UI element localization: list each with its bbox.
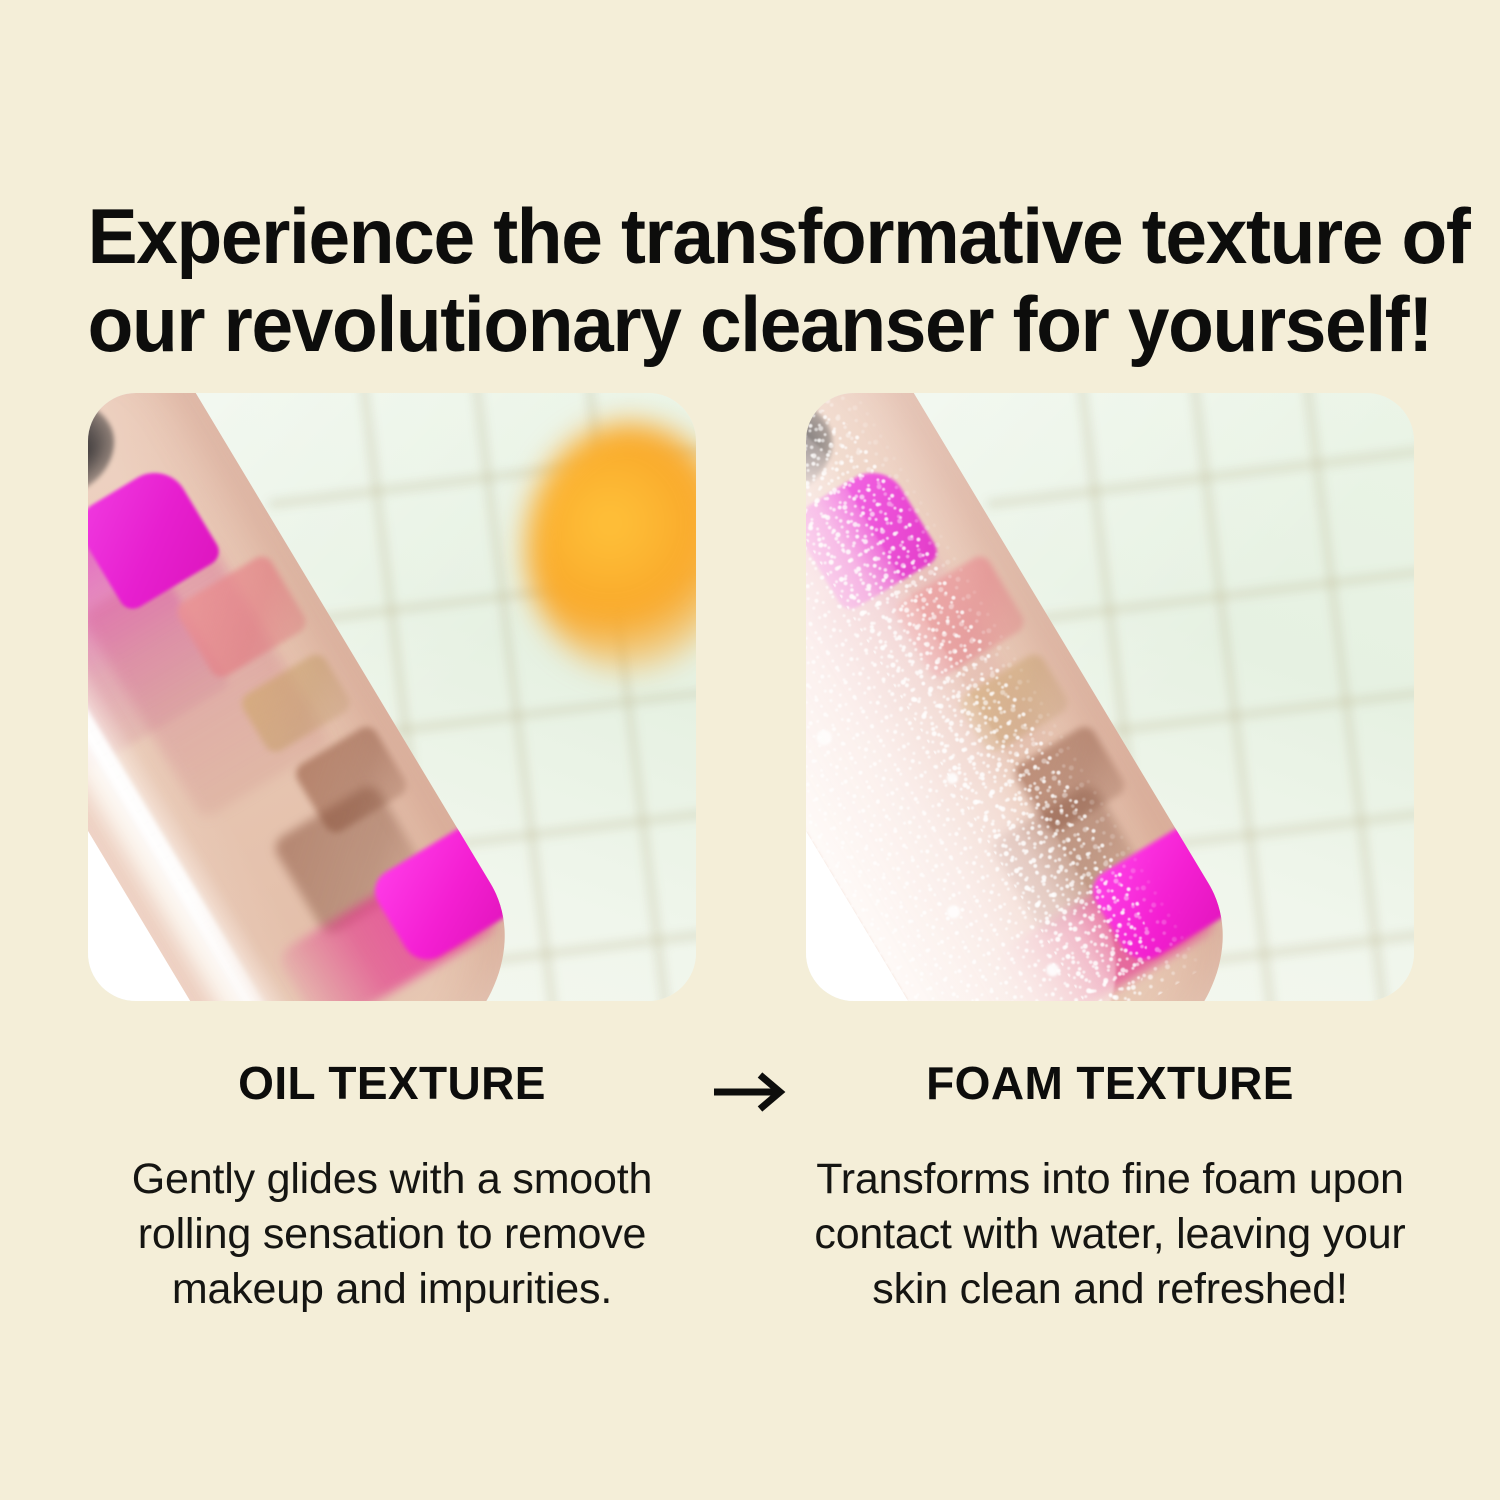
foam-texture-body: Transforms into fine foam upon contact w…: [806, 1152, 1414, 1317]
page-title: Experience the transformative texture of…: [88, 192, 1413, 368]
oil-texture-body: Gently glides with a smooth rolling sens…: [88, 1152, 696, 1317]
arrow-right-icon: [712, 1070, 792, 1114]
foam-texture-title: FOAM TEXTURE: [806, 1060, 1414, 1106]
oil-texture-title: OIL TEXTURE: [88, 1060, 696, 1106]
headline-line-2: our revolutionary cleanser for yourself!: [88, 280, 1413, 368]
foam-texture-caption: FOAM TEXTURE Transforms into fine foam u…: [806, 1060, 1414, 1317]
promo-page: Experience the transformative texture of…: [0, 0, 1500, 1500]
photo-background: [806, 393, 1414, 1001]
foam-texture-photo: [806, 393, 1414, 1001]
texture-comparison: [0, 393, 1500, 1005]
photo-background: [88, 393, 696, 1001]
oil-texture-caption: OIL TEXTURE Gently glides with a smooth …: [88, 1060, 696, 1317]
headline-line-1: Experience the transformative texture of: [88, 192, 1413, 280]
oil-texture-photo: [88, 393, 696, 1001]
